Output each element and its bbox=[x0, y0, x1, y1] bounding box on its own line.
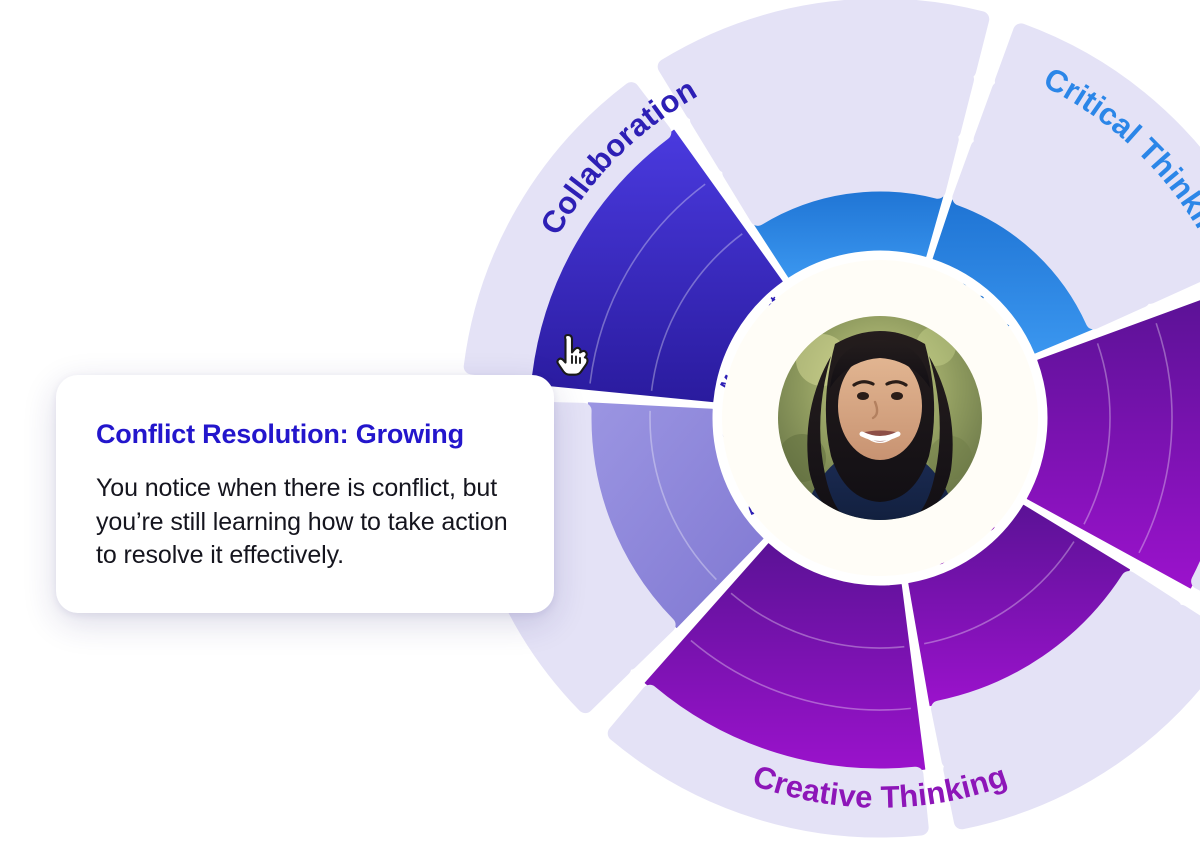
skills-wheel[interactable]: ProjectManagementEvaluateJudgeInterpretA… bbox=[450, 0, 1200, 848]
skills-wheel-page: ProjectManagementEvaluateJudgeInterpretA… bbox=[0, 0, 1200, 836]
tooltip-title: Conflict Resolution: Growing bbox=[96, 419, 510, 450]
avatar bbox=[778, 316, 982, 520]
skill-tooltip-card: Conflict Resolution: Growing You notice … bbox=[56, 375, 554, 613]
skills-wheel-svg[interactable]: ProjectManagementEvaluateJudgeInterpretA… bbox=[450, 0, 1200, 848]
tooltip-body: You notice when there is conflict, but y… bbox=[96, 472, 510, 573]
